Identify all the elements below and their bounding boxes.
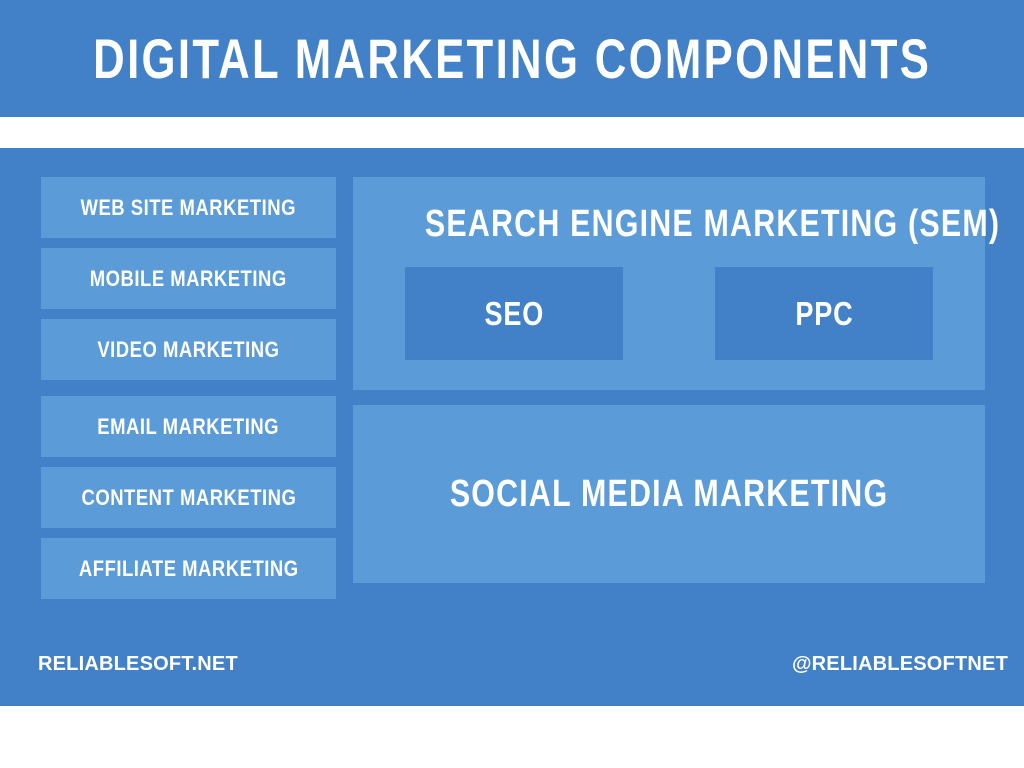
social-media-marketing-panel[interactable]: SOCIAL MEDIA MARKETING bbox=[353, 405, 985, 583]
footer-website: RELIABLESOFT.NET bbox=[38, 653, 238, 676]
smm-panel-title: SOCIAL MEDIA MARKETING bbox=[450, 475, 889, 513]
list-item-web-site-marketing[interactable]: WEB SITE MARKETING bbox=[41, 177, 336, 238]
list-item-label: MOBILE MARKETING bbox=[90, 268, 287, 290]
infographic-canvas: DIGITAL MARKETING COMPONENTS WEB SITE MA… bbox=[0, 0, 1024, 768]
list-item-label: WEB SITE MARKETING bbox=[81, 197, 296, 219]
list-item-email-marketing[interactable]: EMAIL MARKETING bbox=[41, 396, 336, 457]
header-band: DIGITAL MARKETING COMPONENTS bbox=[0, 0, 1024, 117]
search-engine-marketing-panel[interactable]: SEARCH ENGINE MARKETING (SEM) SEO PPC bbox=[353, 177, 985, 390]
list-item-video-marketing[interactable]: VIDEO MARKETING bbox=[41, 319, 336, 380]
list-item-label: VIDEO MARKETING bbox=[97, 339, 279, 361]
list-item-content-marketing[interactable]: CONTENT MARKETING bbox=[41, 467, 336, 528]
list-item-label: EMAIL MARKETING bbox=[98, 416, 280, 438]
sem-panel-title: SEARCH ENGINE MARKETING (SEM) bbox=[353, 205, 985, 243]
sem-subitem-seo[interactable]: SEO bbox=[405, 267, 623, 360]
footer-social-handle: @RELIABLESOFTNET bbox=[792, 653, 1008, 676]
sem-panel-title-text: SEARCH ENGINE MARKETING (SEM) bbox=[425, 205, 1000, 243]
left-channel-list: WEB SITE MARKETING MOBILE MARKETING VIDE… bbox=[41, 177, 336, 599]
body-band: WEB SITE MARKETING MOBILE MARKETING VIDE… bbox=[0, 148, 1024, 706]
list-item-label: CONTENT MARKETING bbox=[81, 487, 296, 509]
list-item-affiliate-marketing[interactable]: AFFILIATE MARKETING bbox=[41, 538, 336, 599]
sem-subitem-row: SEO PPC bbox=[353, 267, 985, 360]
sem-subitem-label: PPC bbox=[795, 297, 853, 330]
right-panel-group: SEARCH ENGINE MARKETING (SEM) SEO PPC SO… bbox=[353, 177, 985, 583]
sem-subitem-ppc[interactable]: PPC bbox=[715, 267, 933, 360]
sem-subitem-label: SEO bbox=[484, 297, 544, 330]
page-title: DIGITAL MARKETING COMPONENTS bbox=[93, 31, 931, 87]
list-item-mobile-marketing[interactable]: MOBILE MARKETING bbox=[41, 248, 336, 309]
list-item-label: AFFILIATE MARKETING bbox=[79, 558, 299, 580]
